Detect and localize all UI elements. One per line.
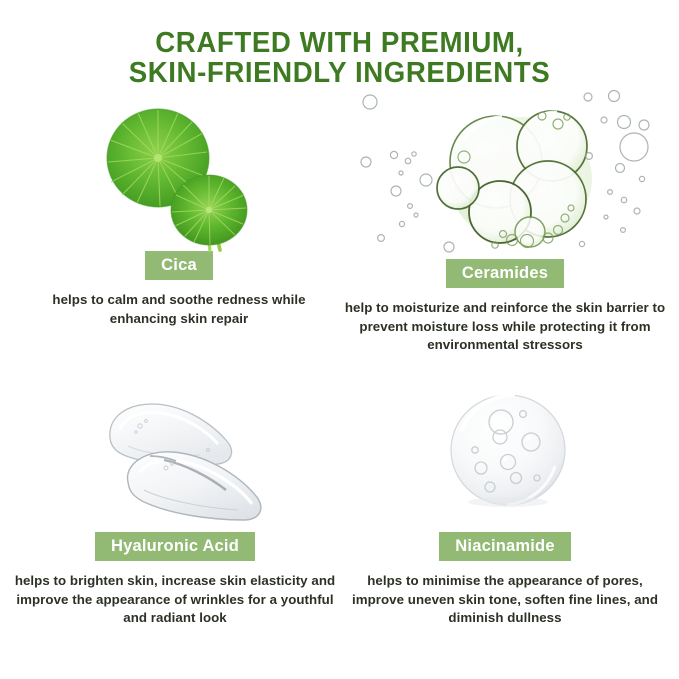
- ingredients-infographic: CRAFTED WITH PREMIUM, SKIN-FRIENDLY INGR…: [0, 0, 679, 679]
- ingredient-description-ceramides: help to moisturize and reinforce the ski…: [340, 299, 670, 355]
- ingredient-label-niacinamide: Niacinamide: [439, 532, 570, 561]
- gel-smear-icon: [80, 390, 280, 530]
- hyaluronic-acid-artwork: [10, 382, 340, 532]
- ingredient-card-hyaluronic-acid: Hyaluronic Acid helps to brighten skin, …: [10, 382, 340, 628]
- ingredient-description-niacinamide: helps to minimise the appearance of pore…: [340, 572, 670, 628]
- ingredient-label-hyaluronic-acid: Hyaluronic Acid: [95, 532, 255, 561]
- page-title: CRAFTED WITH PREMIUM, SKIN-FRIENDLY INGR…: [10, 28, 669, 88]
- gel-droplet-icon: [445, 382, 571, 512]
- centella-leaves-icon: [96, 100, 266, 252]
- ingredient-card-ceramides: Ceramides help to moisturize and reinfor…: [340, 84, 670, 355]
- ingredient-label-ceramides: Ceramides: [446, 259, 564, 288]
- bubbles-cluster-icon: [352, 84, 658, 259]
- ingredient-label-cica: Cica: [145, 251, 213, 280]
- ingredient-card-cica: Cica helps to calm and soothe redness wh…: [18, 96, 340, 328]
- ceramides-artwork: [340, 84, 670, 259]
- ingredient-description-cica: helps to calm and soothe redness while e…: [18, 291, 340, 328]
- niacinamide-artwork: [340, 382, 670, 532]
- ingredient-card-niacinamide: Niacinamide helps to minimise the appear…: [340, 382, 670, 628]
- page-title-line-1: CRAFTED WITH PREMIUM,: [10, 28, 669, 58]
- cica-artwork: [18, 96, 340, 251]
- ingredient-description-hyaluronic-acid: helps to brighten skin, increase skin el…: [10, 572, 340, 628]
